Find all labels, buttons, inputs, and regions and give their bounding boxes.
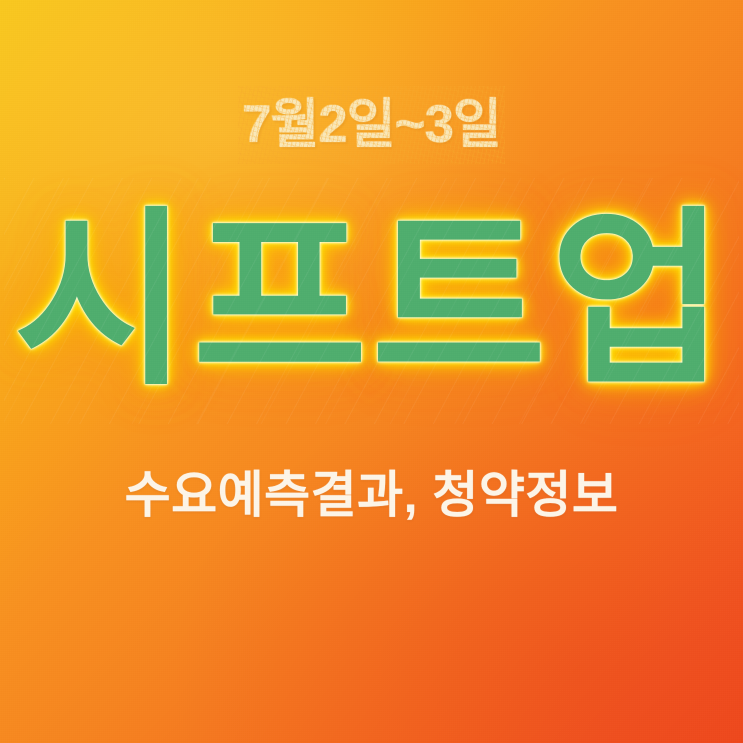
poster-card: 7월2일~3일 시프트업 수요예측결과, 청약정보 bbox=[0, 0, 743, 743]
poster-title-label: 시프트업 bbox=[14, 196, 729, 406]
poster-title: 시프트업 bbox=[0, 196, 743, 406]
poster-subtitle: 수요예측결과, 청약정보 bbox=[0, 462, 743, 528]
event-date-label: 7월2일~3일 bbox=[242, 92, 501, 158]
event-date-text: 7월2일~3일 bbox=[0, 92, 743, 158]
poster-subtitle-label: 수요예측결과, 청약정보 bbox=[125, 467, 619, 523]
